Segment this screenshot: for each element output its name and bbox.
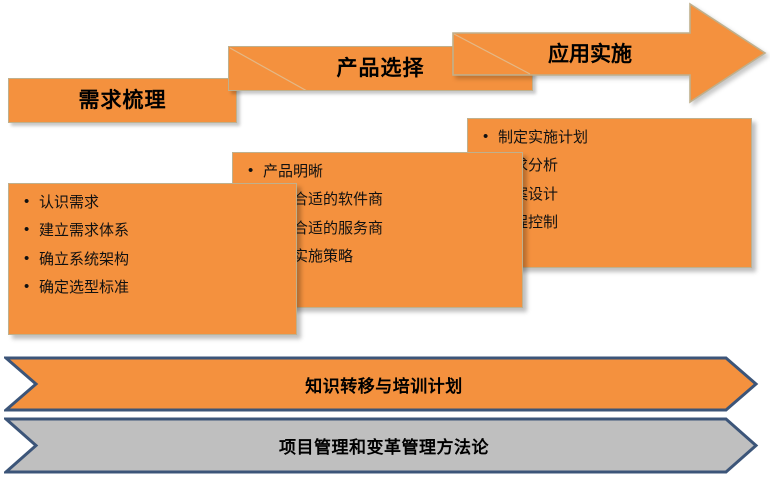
list-item: 确定选型标准 xyxy=(23,279,284,296)
detail-box-1[interactable]: 认识需求 建立需求体系 确立系统架构 确定选型标准 xyxy=(8,183,297,335)
phase-title-2: 产品选择 xyxy=(337,58,425,79)
list-item: 确立系统架构 xyxy=(23,251,284,268)
phase-title-3: 应用实施 xyxy=(548,44,632,65)
detail-list-1: 认识需求 建立需求体系 确立系统架构 确定选型标准 xyxy=(23,194,284,296)
phase-title-1: 需求梳理 xyxy=(79,90,167,111)
list-item: 建立需求体系 xyxy=(23,222,284,239)
list-item: 产品明晰 xyxy=(247,163,510,180)
band-knowledge-transfer[interactable]: 知识转移与培训计划 xyxy=(4,356,764,412)
list-item: 制定实施计划 xyxy=(482,129,739,146)
phase-banner-1[interactable]: 需求梳理 xyxy=(8,78,237,123)
list-item: 认识需求 xyxy=(23,194,284,211)
phase-banner-3[interactable]: 应用实施 xyxy=(452,2,768,104)
band-methodology[interactable]: 项目管理和变革管理方法论 xyxy=(4,417,764,474)
diagram-canvas: 需求梳理 产品选择 应用实施 制定实施计划 需求分析 方案设计 过程控制 产品明… xyxy=(0,0,770,481)
